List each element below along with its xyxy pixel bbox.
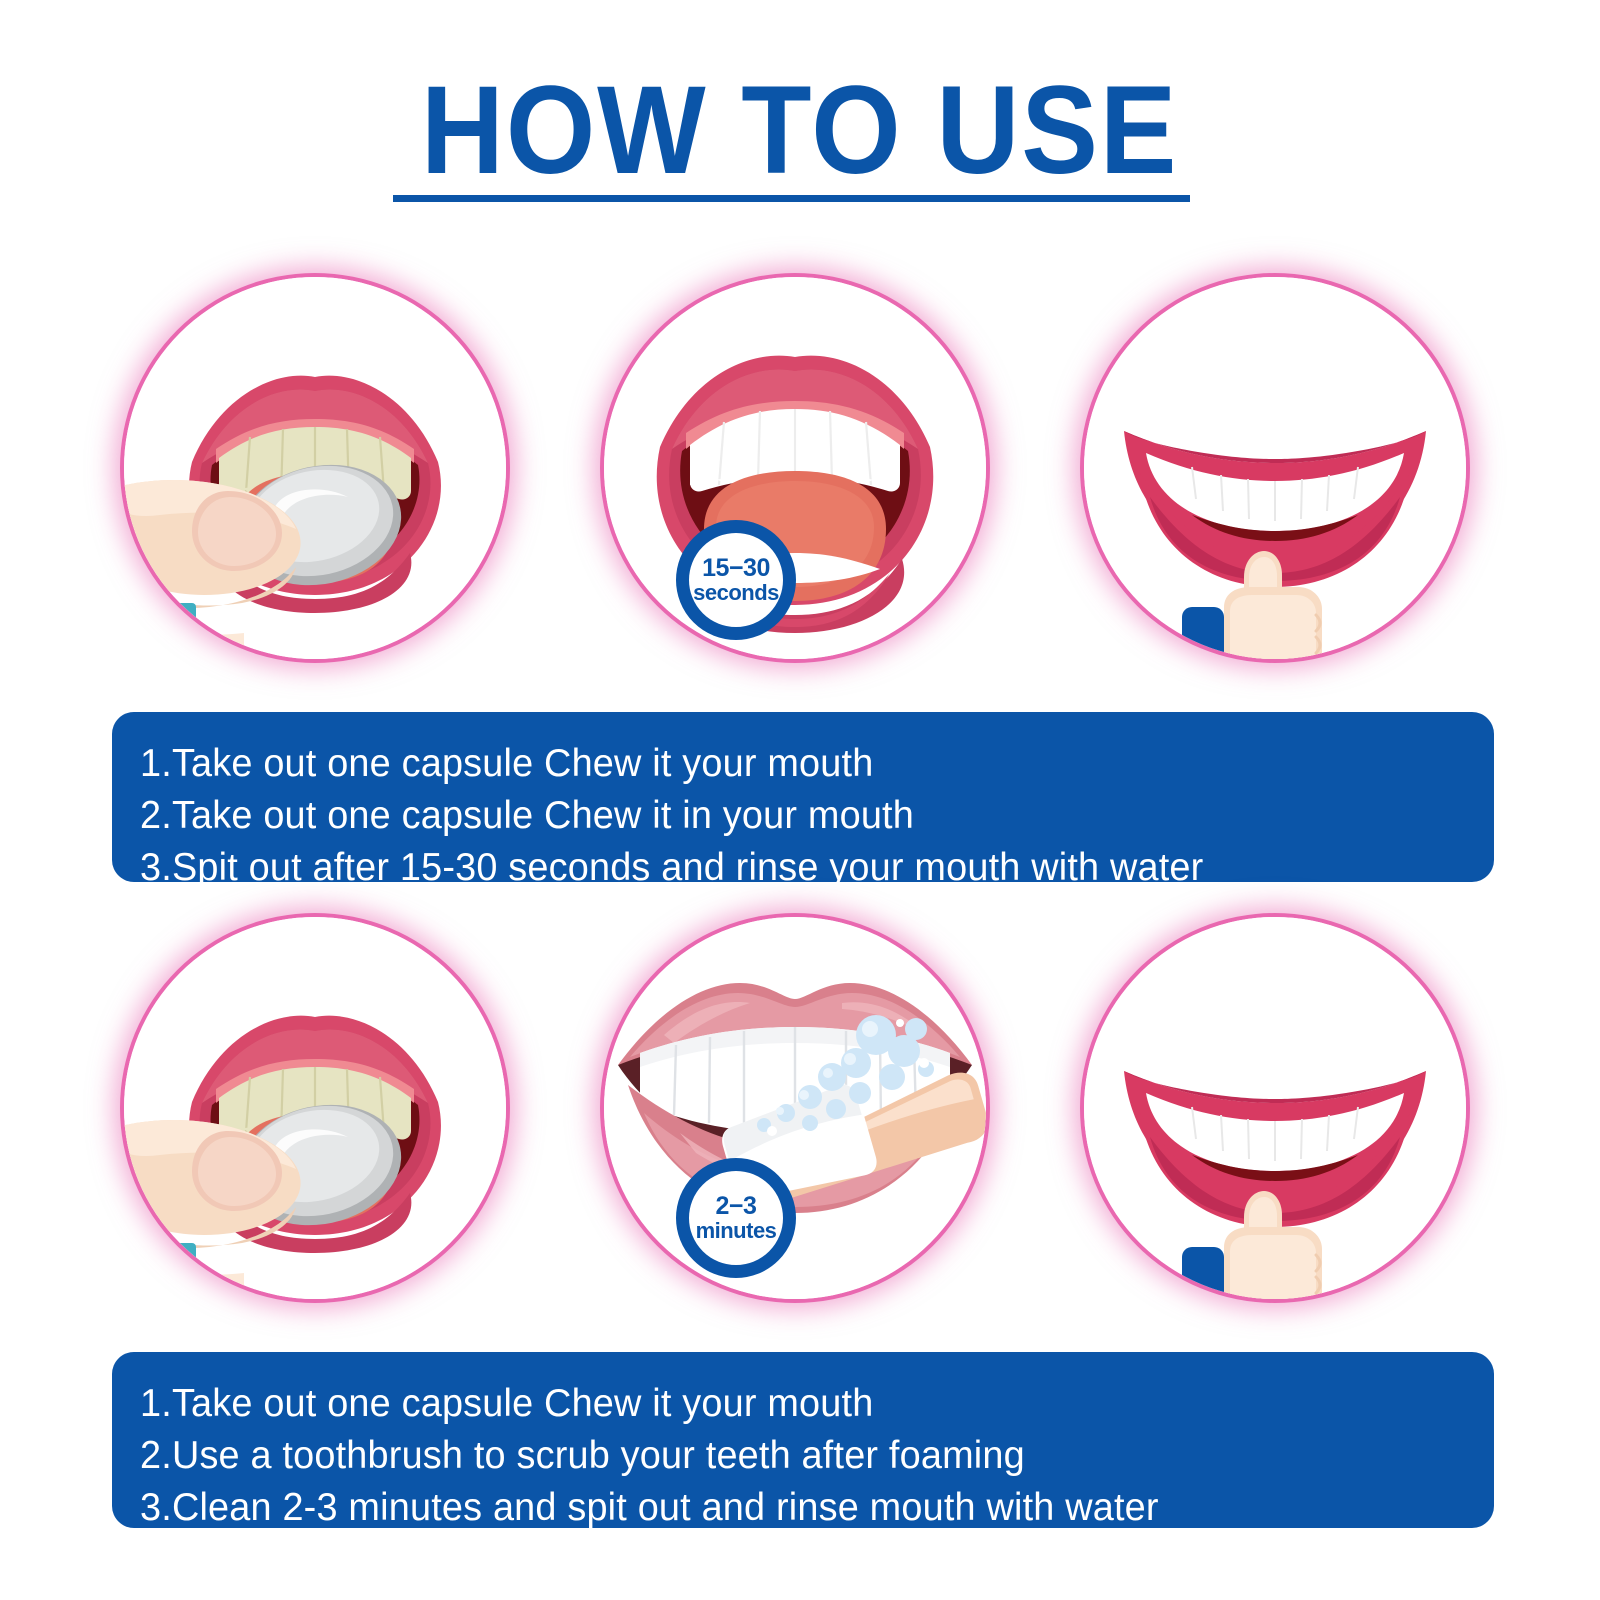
- chew-capsule-illustration: [124, 277, 506, 659]
- instruction-line: 1.Take out one capsule Chew it your mout…: [140, 738, 1453, 790]
- instructions-box-2: 1.Take out one capsule Chew it your mout…: [112, 1352, 1494, 1528]
- brush-teeth-illustration: [604, 917, 986, 1299]
- step-circle-chew-capsule: [124, 277, 506, 659]
- chew-capsule-illustration: [124, 917, 506, 1299]
- step-circle-smile-result: [1084, 917, 1466, 1299]
- timer-badge-range: 15−30: [702, 556, 770, 582]
- steps-row-1: 15−30 seconds: [0, 277, 1600, 677]
- instruction-line: 2.Take out one capsule Chew it in your m…: [140, 790, 1453, 842]
- step-circle-hold-in-mouth: [604, 277, 986, 659]
- instruction-line: 3.Clean 2-3 minutes and spit out and rin…: [140, 1482, 1453, 1534]
- step-circle-chew-capsule: [124, 917, 506, 1299]
- step-circle-smile-result: [1084, 277, 1466, 659]
- title-underline: [393, 195, 1190, 202]
- timer-badge-unit: seconds: [693, 581, 779, 604]
- open-mouth-illustration: [604, 277, 986, 659]
- timer-badge-minutes: 2−3 minutes: [676, 1158, 796, 1278]
- page-title-wrap: HOW TO USE: [0, 68, 1600, 193]
- steps-row-2: 2−3 minutes: [0, 917, 1600, 1317]
- page-title: HOW TO USE: [421, 68, 1178, 193]
- how-to-use-infographic: HOW TO USE: [0, 0, 1600, 1600]
- timer-badge-range: 2−3: [716, 1194, 757, 1220]
- timer-badge-seconds: 15−30 seconds: [676, 520, 796, 640]
- instruction-line: 3.Spit out after 15-30 seconds and rinse…: [140, 842, 1453, 894]
- smile-thumbs-up-illustration: [1084, 917, 1466, 1299]
- instruction-line: 2.Use a toothbrush to scrub your teeth a…: [140, 1430, 1453, 1482]
- smile-thumbs-up-illustration: [1084, 277, 1466, 659]
- instruction-line: 1.Take out one capsule Chew it your mout…: [140, 1378, 1453, 1430]
- step-circle-brush-teeth: [604, 917, 986, 1299]
- instructions-box-1: 1.Take out one capsule Chew it your mout…: [112, 712, 1494, 882]
- timer-badge-unit: minutes: [696, 1219, 777, 1242]
